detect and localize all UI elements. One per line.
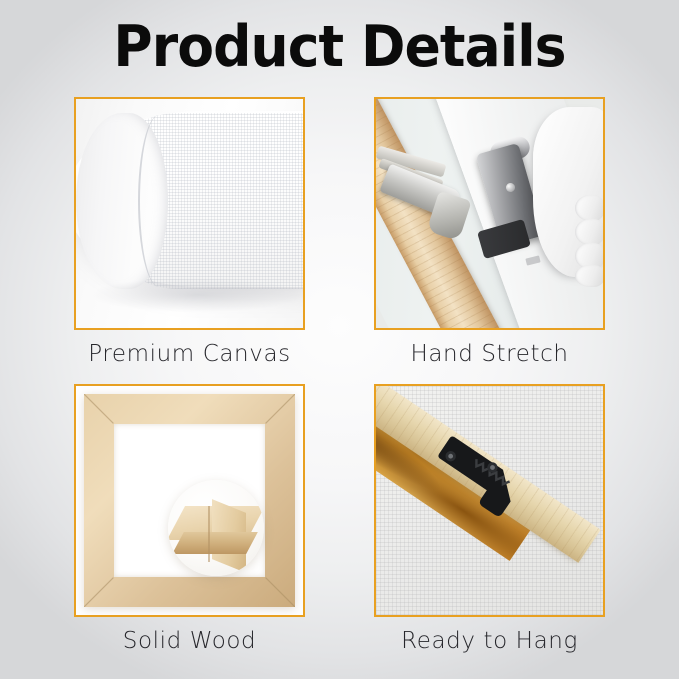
- product-details-infographic: Product Details Premium Canvas: [0, 0, 679, 679]
- feature-cell-ready-to-hang: Ready to Hang: [374, 384, 605, 656]
- feature-cell-hand-stretch: Hand Stretch: [374, 97, 605, 369]
- feature-caption-premium-canvas: Premium Canvas: [74, 339, 305, 369]
- feature-image-panel-hand-stretch: [374, 97, 605, 330]
- canvas-drop-shadow: [92, 278, 302, 312]
- feature-caption-hand-stretch: Hand Stretch: [374, 339, 605, 369]
- canvas-curl-edge: [138, 115, 180, 287]
- feature-image-panel-premium-canvas: [74, 97, 305, 330]
- feature-image-panel-solid-wood: [74, 384, 305, 617]
- corner-joint-zoom-inset: [168, 480, 264, 576]
- feature-cell-solid-wood: Solid Wood: [74, 384, 305, 656]
- glove-finger: [575, 195, 603, 221]
- glove-finger: [575, 265, 603, 287]
- glove-finger: [575, 219, 603, 245]
- sawtooth-hanger-image: [376, 386, 603, 615]
- feature-grid: Premium Canvas: [74, 97, 605, 651]
- joint-edge-face: [172, 532, 258, 554]
- canvas-roll-image: [76, 99, 303, 328]
- page-title: Product Details: [20, 13, 658, 81]
- joint-mitre-seam: [208, 506, 210, 562]
- solid-wood-frame-image: [76, 386, 303, 615]
- feature-caption-ready-to-hang: Ready to Hang: [374, 626, 605, 656]
- feature-image-panel-ready-to-hang: [374, 384, 605, 617]
- hand-stretch-image: [376, 99, 603, 328]
- feature-caption-solid-wood: Solid Wood: [74, 626, 305, 656]
- feature-cell-premium-canvas: Premium Canvas: [74, 97, 305, 369]
